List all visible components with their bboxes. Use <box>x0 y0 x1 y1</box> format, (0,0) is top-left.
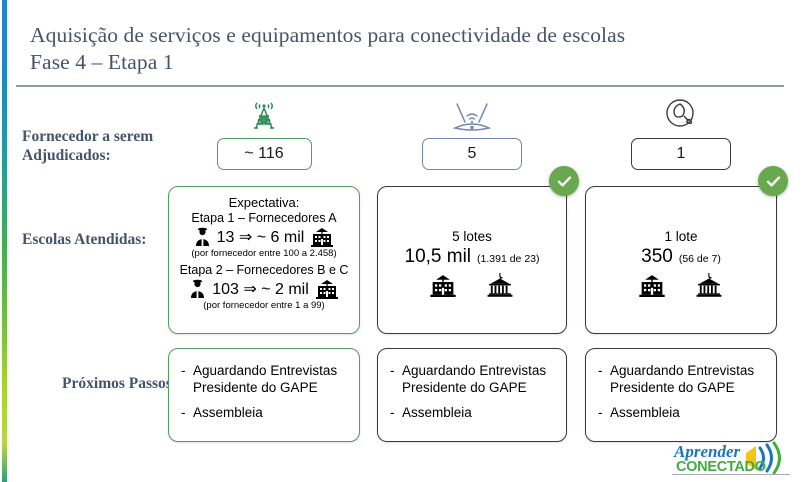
check-icon <box>765 173 782 190</box>
lotes-label: 1 lote <box>664 229 697 244</box>
school-icon <box>314 279 340 299</box>
bullet-dash: - <box>181 405 193 422</box>
aprender-conectado-logo: Aprender CONECTADO <box>672 440 790 476</box>
logo-word-conectado: CONECTADO <box>676 459 766 475</box>
person-icon <box>188 278 207 299</box>
school-icon <box>637 274 667 297</box>
satellite-dish-icon <box>585 92 777 134</box>
supplier-count-box-radio[interactable]: 5 <box>422 138 522 170</box>
bullet-dash: - <box>181 363 193 396</box>
left-gradient-bar <box>2 0 7 482</box>
list-item: - Assembleia <box>181 405 349 422</box>
government-building-icon <box>693 273 725 297</box>
attendance-detail: (1.391 de 23) <box>477 253 539 265</box>
supplier-count-box-fiber[interactable]: ~ 116 <box>217 138 312 170</box>
radio-tower-icon <box>168 92 360 134</box>
stage1-row: 13 ⇒ ~ 6 mil <box>175 226 353 247</box>
attendance-main-row: 350 (56 de 7) <box>641 246 721 268</box>
next-step-text: Assembleia <box>402 405 556 422</box>
government-building-icon <box>484 273 516 297</box>
next-steps-card-radio: - Aguardando Entrevistas Presidente do G… <box>377 348 567 442</box>
next-step-text: Aguardando Entrevistas Presidente do GAP… <box>610 363 766 396</box>
attendance-card-radio: 5 lotes 10,5 mil (1.391 de 23) <box>377 186 567 334</box>
stage2-value: 103 ⇒ ~ 2 mil <box>212 279 309 299</box>
row-label-schools: Escolas Atendidas: <box>22 230 182 249</box>
title-line-2: Fase 4 – Etapa 1 <box>30 49 750 76</box>
row-label-suppliers: Fornecedor a serem Adjudicados: <box>22 127 172 165</box>
attendance-detail: (56 de 7) <box>679 253 721 265</box>
attendance-icons <box>428 273 516 297</box>
attendance-card-satellite: 1 lote 350 (56 de 7) <box>585 186 777 334</box>
list-item: - Assembleia <box>598 405 766 422</box>
next-step-text: Assembleia <box>193 405 349 422</box>
attendance-value: 350 <box>641 246 673 268</box>
row-label-next-steps: Próximos Passos: <box>22 374 177 393</box>
attendance-main-row: 10,5 mil (1.391 de 23) <box>405 246 540 268</box>
list-item: - Aguardando Entrevistas Presidente do G… <box>390 363 556 396</box>
attendance-card-fiber: Expectativa: Etapa 1 – Fornecedores A 13… <box>168 186 360 334</box>
status-badge-check-satellite <box>758 166 788 196</box>
next-steps-card-satellite: - Aguardando Entrevistas Presidente do G… <box>585 348 777 442</box>
attendance-value: 10,5 mil <box>405 246 472 268</box>
bullet-dash: - <box>390 363 402 396</box>
list-item: - Aguardando Entrevistas Presidente do G… <box>181 363 349 396</box>
attendance-icons <box>637 273 725 297</box>
next-step-text: Aguardando Entrevistas Presidente do GAP… <box>193 363 349 396</box>
logo-underline <box>672 474 790 475</box>
column-satellite: 1 1 lote 350 (56 de 7) <box>585 92 777 442</box>
stage2-row: 103 ⇒ ~ 2 mil <box>175 278 353 299</box>
stage2-note: (por fornecedor entre 1 a 99) <box>175 300 353 311</box>
lotes-label: 5 lotes <box>452 229 492 244</box>
stage1-value: 13 ⇒ ~ 6 mil <box>217 227 305 247</box>
expectativa-heading: Expectativa: <box>175 195 353 210</box>
stage2-label: Etapa 2 – Fornecedores B e C <box>175 263 353 277</box>
stage1-label: Etapa 1 – Fornecedores A <box>175 211 353 225</box>
stage1-note: (por fornecedor entre 100 a 2.458) <box>175 248 353 259</box>
column-radio: 5 5 lotes 10,5 mil (1.391 de 23) <box>377 92 567 442</box>
list-item: - Aguardando Entrevistas Presidente do G… <box>598 363 766 396</box>
bullet-dash: - <box>390 405 402 422</box>
wifi-router-icon <box>377 92 567 134</box>
column-fiber: ~ 116 Expectativa: Etapa 1 – Fornecedore… <box>168 92 360 442</box>
title-line-1: Aquisição de serviços e equipamentos par… <box>30 23 625 47</box>
check-icon <box>556 173 573 190</box>
next-step-text: Assembleia <box>610 405 766 422</box>
title-divider <box>16 85 784 87</box>
supplier-count-box-satellite[interactable]: 1 <box>631 138 731 170</box>
next-steps-card-fiber: - Aguardando Entrevistas Presidente do G… <box>168 348 360 442</box>
bullet-dash: - <box>598 405 610 422</box>
page-title: Aquisição de serviços e equipamentos par… <box>30 22 750 76</box>
school-icon <box>428 274 458 297</box>
next-step-text: Aguardando Entrevistas Presidente do GAP… <box>402 363 556 396</box>
list-item: - Assembleia <box>390 405 556 422</box>
status-badge-check-radio <box>549 166 579 196</box>
person-icon <box>193 226 212 247</box>
bullet-dash: - <box>598 363 610 396</box>
school-icon <box>309 227 335 247</box>
